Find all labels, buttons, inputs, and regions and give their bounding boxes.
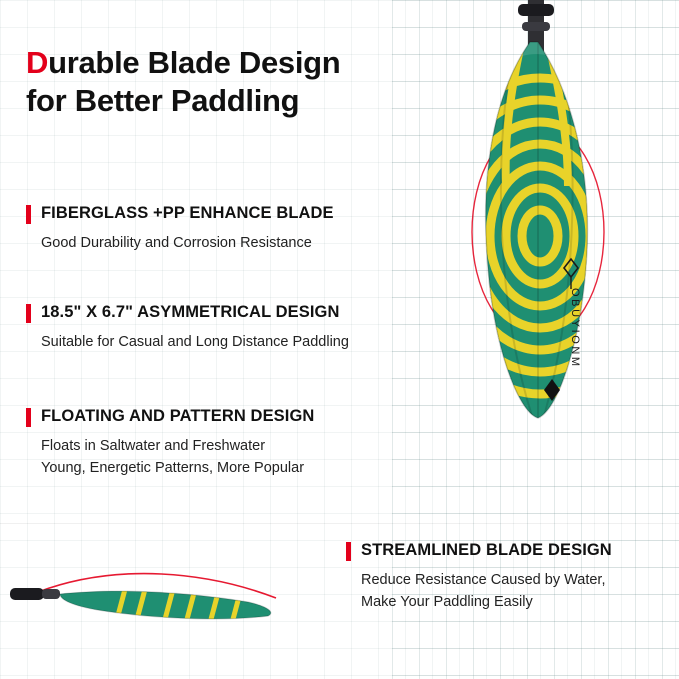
feature-2-title: 18.5" X 6.7" ASYMMETRICAL DESIGN [41,303,340,322]
paddle-profile-image [8,548,308,658]
profile-shaft [10,588,44,600]
feature-2-heading: 18.5" X 6.7" ASYMMETRICAL DESIGN [26,303,392,323]
shaft-collar [518,4,554,16]
section-divider [0,523,679,524]
bullet-marker-icon [26,408,31,427]
feature-block-3: FLOATING AND PATTERN DESIGN Floats in Sa… [26,407,392,480]
title-line-2: for Better Paddling [26,83,299,118]
feature-block-1: FIBERGLASS +PP ENHANCE BLADE Good Durabi… [26,204,392,255]
feature-4-heading: STREAMLINED BLADE DESIGN [346,541,666,561]
bullet-marker-icon [26,304,31,323]
feature-4-subtitle-line-1: Reduce Resistance Caused by Water, [361,572,605,588]
blade-body [452,0,632,470]
paddle-blade-image: OBUYIONM [452,0,632,470]
feature-1-title: FIBERGLASS +PP ENHANCE BLADE [41,204,334,223]
feature-3-subtitle: Floats in Saltwater and Freshwater Young… [41,436,392,480]
feature-4-subtitle: Reduce Resistance Caused by Water, Make … [361,570,666,614]
feature-3-heading: FLOATING AND PATTERN DESIGN [26,407,392,427]
bullet-marker-icon [346,542,351,561]
feature-4-title: STREAMLINED BLADE DESIGN [361,541,612,560]
feature-1-heading: FIBERGLASS +PP ENHANCE BLADE [26,204,392,224]
bullet-marker-icon [26,205,31,224]
feature-3-title: FLOATING AND PATTERN DESIGN [41,407,314,426]
shaft-ferrule [522,22,550,31]
title-initial-cap: D [26,45,48,80]
feature-2-subtitle: Suitable for Casual and Long Distance Pa… [41,332,392,354]
feature-4-subtitle-line-2: Make Your Paddling Easily [361,594,533,610]
product-infographic: Durable Blade Design for Better Paddling… [0,0,679,679]
feature-block-4: STREAMLINED BLADE DESIGN Reduce Resistan… [346,541,666,614]
feature-3-subtitle-line-1: Floats in Saltwater and Freshwater [41,438,265,454]
profile-ferrule [42,589,60,599]
title-line-1: urable Blade Design [48,45,340,80]
page-title: Durable Blade Design for Better Paddling [26,44,396,120]
feature-3-subtitle-line-2: Young, Energetic Patterns, More Popular [41,460,304,476]
feature-1-subtitle: Good Durability and Corrosion Resistance [41,233,392,255]
brand-name-text: OBUYIONM [569,288,581,369]
feature-block-2: 18.5" X 6.7" ASYMMETRICAL DESIGN Suitabl… [26,303,392,354]
